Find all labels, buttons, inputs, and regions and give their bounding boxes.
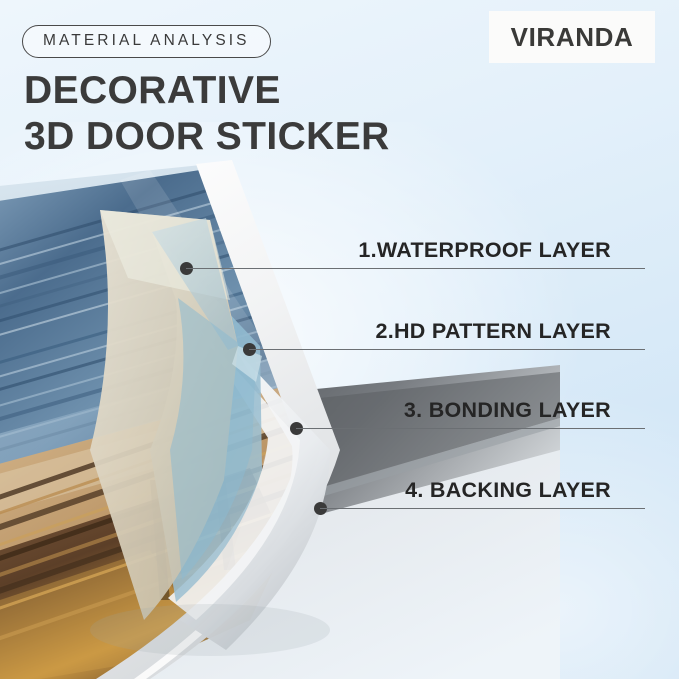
callout-line-2	[249, 349, 645, 350]
page-title: DECORATIVE 3D DOOR STICKER	[24, 68, 390, 160]
callout-label-1: 1.WATERPROOF LAYER	[358, 238, 611, 268]
brand-name: VIRANDA	[511, 22, 634, 53]
callout-label-4: 4. BACKING LAYER	[405, 478, 611, 508]
callout-line-1	[186, 268, 645, 269]
title-line-1: DECORATIVE	[24, 68, 390, 114]
callout-line-4	[320, 508, 645, 509]
callout-line-3	[296, 428, 645, 429]
callout-label-3: 3. BONDING LAYER	[404, 398, 611, 428]
brand-logo: VIRANDA	[489, 11, 655, 63]
product-infographic-poster: MATERIAL ANALYSIS DECORATIVE 3D DOOR STI…	[0, 0, 679, 679]
callout-label-2: 2.HD PATTERN LAYER	[375, 319, 611, 349]
title-line-2: 3D DOOR STICKER	[24, 114, 390, 160]
material-analysis-badge: MATERIAL ANALYSIS	[22, 25, 271, 58]
